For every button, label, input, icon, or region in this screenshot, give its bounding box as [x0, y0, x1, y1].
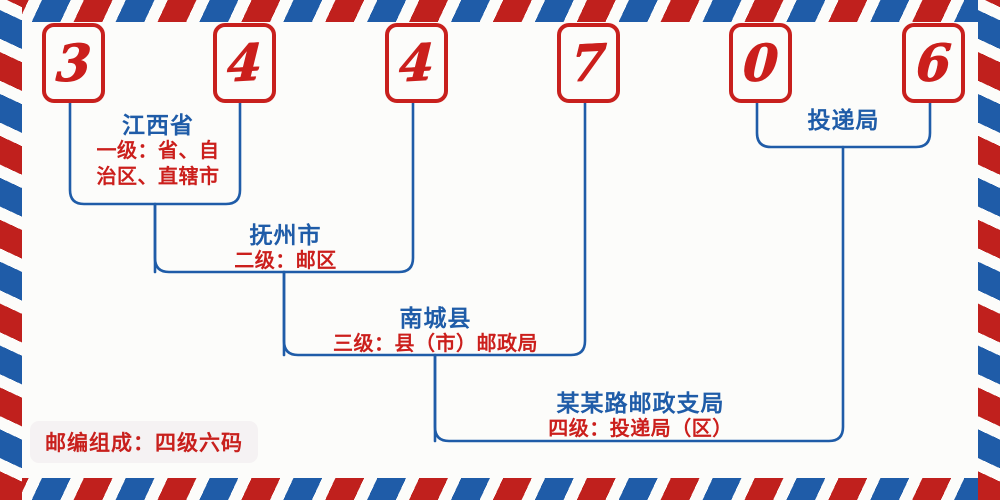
- legend-text: 邮编组成：四级六码: [45, 427, 243, 457]
- delivery-office-label: 投递局: [757, 107, 930, 134]
- level-3-desc-line1: 三级：县（市）邮政局: [286, 332, 585, 358]
- airmail-border-left: [0, 0, 22, 500]
- level-4-name: 某某路邮政支局: [438, 390, 843, 417]
- level-2-desc-line1: 二级：邮区: [158, 249, 413, 275]
- digit-glyph: 0: [742, 37, 780, 89]
- digit-glyph: 4: [226, 37, 264, 89]
- digit-glyph: 7: [570, 37, 608, 89]
- postcode-digit-2[interactable]: 4: [213, 23, 276, 103]
- level-1-name: 江西省: [76, 112, 240, 139]
- postcode-diagram: 3 4 4 7 0 6 投递局 江西省 一级：省、自 治区、直辖市 抚州市 二级…: [0, 0, 1000, 500]
- level-4-label: 某某路邮政支局 四级：投递局（区）: [438, 390, 843, 443]
- legend-chip: 邮编组成：四级六码: [30, 421, 258, 463]
- airmail-border-bottom: [0, 478, 1000, 500]
- level-4-desc-line1: 四级：投递局（区）: [438, 417, 843, 443]
- level-1-label: 江西省 一级：省、自 治区、直辖市: [76, 112, 240, 190]
- airmail-border-top: [0, 0, 1000, 22]
- postcode-digit-6[interactable]: 6: [902, 23, 965, 103]
- level-1-desc-line2: 治区、直辖市: [76, 165, 240, 191]
- level-2-name: 抚州市: [158, 222, 413, 249]
- level-3-label: 南城县 三级：县（市）邮政局: [286, 305, 585, 358]
- postcode-digit-1[interactable]: 3: [42, 23, 105, 103]
- digit-glyph: 6: [915, 37, 953, 89]
- digit-glyph: 3: [55, 37, 93, 89]
- delivery-office-name: 投递局: [757, 107, 930, 134]
- digit-glyph: 4: [398, 37, 436, 89]
- airmail-border-right: [978, 0, 1000, 500]
- level-2-label: 抚州市 二级：邮区: [158, 222, 413, 275]
- postcode-digit-5[interactable]: 0: [729, 23, 792, 103]
- postcode-digit-4[interactable]: 7: [557, 23, 620, 103]
- level-1-desc-line1: 一级：省、自: [76, 139, 240, 165]
- postcode-digit-3[interactable]: 4: [385, 23, 448, 103]
- level-3-name: 南城县: [286, 305, 585, 332]
